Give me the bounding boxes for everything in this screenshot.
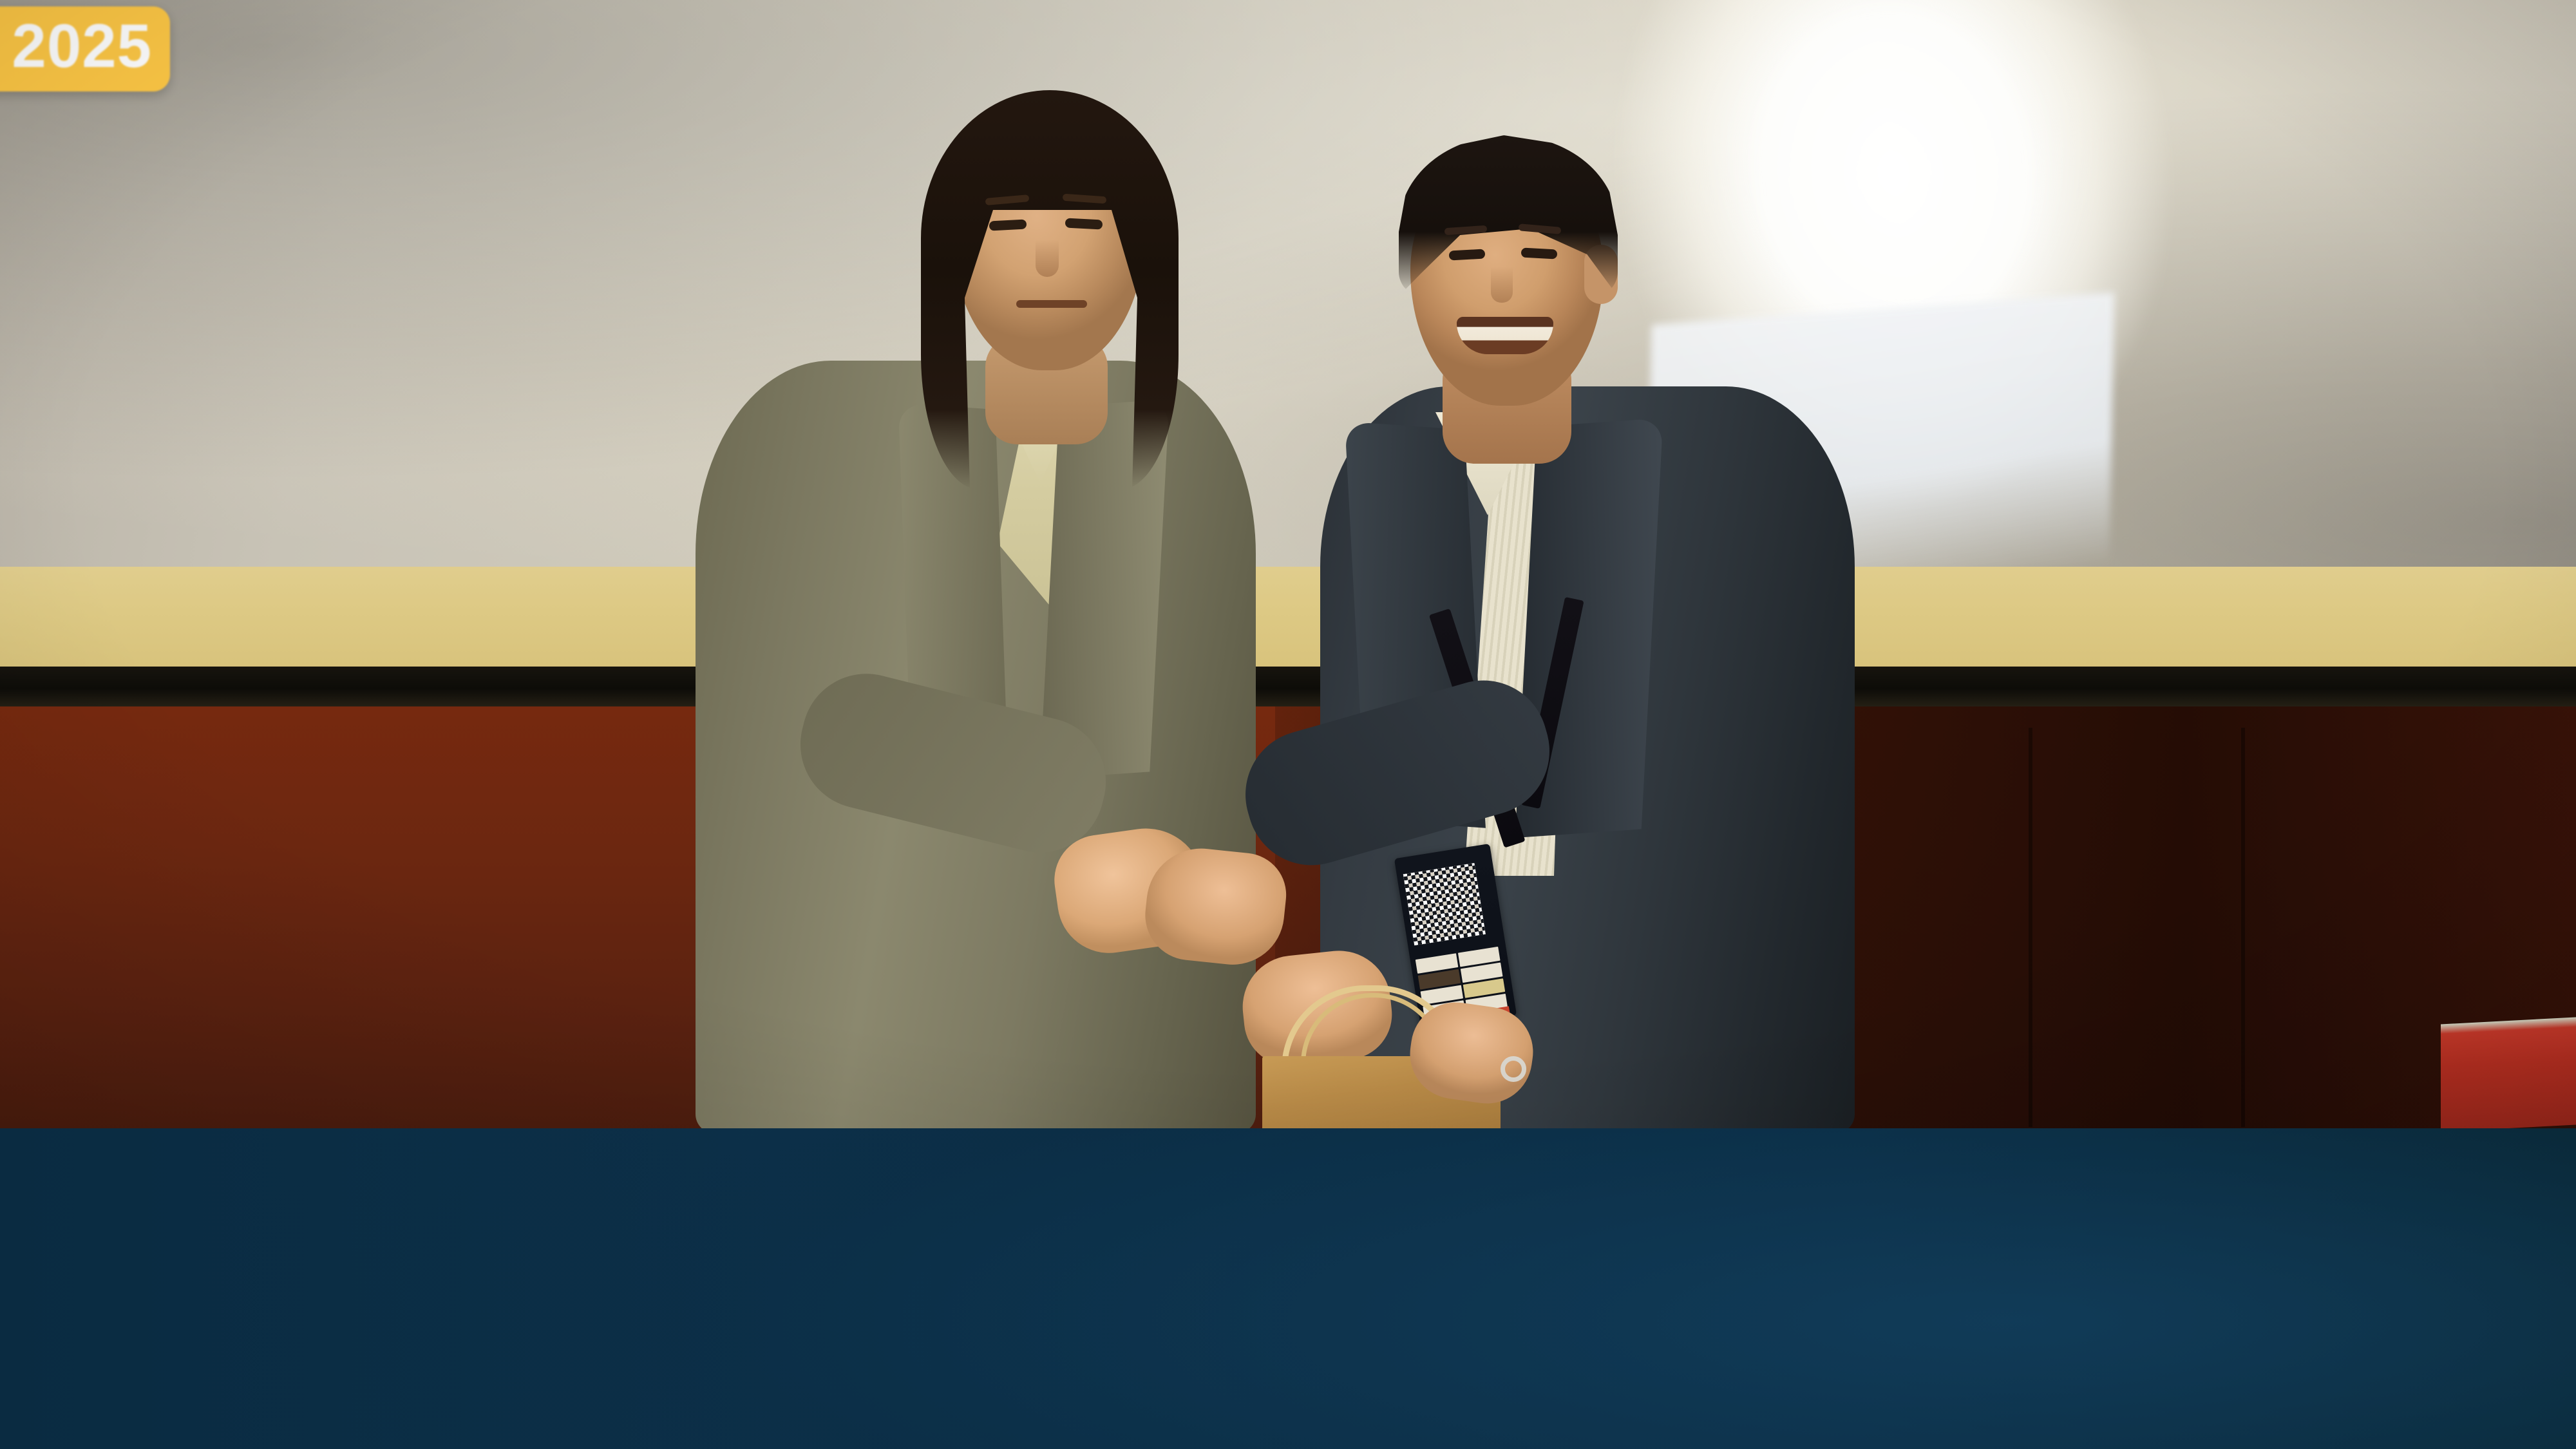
qr-code-icon: [1403, 863, 1486, 945]
wall-khaki-band: [0, 567, 2576, 667]
wall-dark-trim: [0, 667, 2576, 706]
right-person-nose: [1491, 267, 1513, 303]
left-person-eye-left: [989, 219, 1027, 231]
banner-background: [0, 1128, 2576, 1449]
wall-panel-seam: [2241, 728, 2245, 1127]
slide-date-badge-label: er 2025: [0, 15, 152, 77]
event-photo-banner: er 2025: [0, 0, 2576, 1449]
right-person-eye-left: [1449, 249, 1486, 261]
slide-date-badge: er 2025: [0, 6, 170, 91]
right-person-smile: [1457, 317, 1553, 354]
event-banner: AI AI AI: [0, 1128, 2576, 1449]
left-person-eye-right: [1065, 218, 1103, 229]
finger-ring: [1501, 1056, 1526, 1082]
left-person-mouth: [1016, 300, 1087, 308]
left-person-nose: [1036, 240, 1059, 277]
event-photo: er 2025: [0, 0, 2576, 1128]
right-person-eye-right: [1521, 248, 1558, 260]
red-foreground-object: [2441, 1017, 2576, 1128]
wall-panel-seam: [2029, 728, 2032, 1127]
